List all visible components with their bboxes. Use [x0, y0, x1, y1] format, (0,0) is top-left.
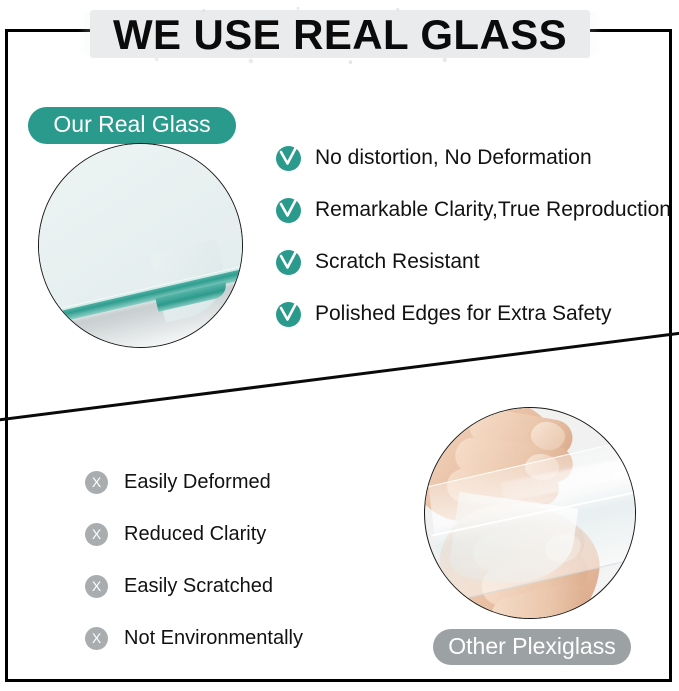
list-item-label: Not Environmentally — [124, 627, 303, 650]
x-glyph: X — [92, 631, 101, 646]
list-item-label: Reduced Clarity — [124, 523, 266, 546]
product-comparison-infographic: WE USE REAL GLASS Our Real Glass No dist… — [0, 0, 679, 691]
x-circle-icon: X — [85, 627, 108, 650]
other-plexiglass-badge: Other Plexiglass — [433, 629, 631, 665]
list-item-label: Remarkable Clarity,True Reproduction — [315, 198, 671, 222]
list-item: Remarkable Clarity,True Reproduction — [276, 184, 671, 236]
list-item-label: Easily Deformed — [124, 471, 271, 494]
list-item: X Easily Deformed — [85, 456, 303, 508]
list-item: X Not Environmentally — [85, 612, 303, 664]
list-item-label: No distortion, No Deformation — [315, 146, 592, 170]
list-item-label: Easily Scratched — [124, 575, 273, 598]
list-item: Polished Edges for Extra Safety — [276, 288, 671, 340]
x-glyph: X — [92, 527, 101, 542]
page-title: WE USE REAL GLASS — [78, 6, 602, 64]
disadvantages-list: X Easily Deformed X Reduced Clarity X Ea… — [85, 456, 303, 664]
check-circle-icon — [276, 250, 301, 275]
title-brush-band: WE USE REAL GLASS — [78, 6, 602, 64]
x-glyph: X — [92, 475, 101, 490]
advantages-list: No distortion, No Deformation Remarkable… — [276, 132, 671, 340]
check-circle-icon — [276, 302, 301, 327]
list-item-label: Polished Edges for Extra Safety — [315, 302, 612, 326]
list-item-label: Scratch Resistant — [315, 250, 480, 274]
hands-bending-plexiglass-photo — [424, 407, 636, 619]
list-item: X Reduced Clarity — [85, 508, 303, 560]
x-circle-icon: X — [85, 575, 108, 598]
x-circle-icon: X — [85, 471, 108, 494]
list-item: Scratch Resistant — [276, 236, 671, 288]
check-circle-icon — [276, 146, 301, 171]
list-item: X Easily Scratched — [85, 560, 303, 612]
check-circle-icon — [276, 198, 301, 223]
real-glass-corner-photo — [38, 143, 243, 348]
x-glyph: X — [92, 579, 101, 594]
our-real-glass-badge: Our Real Glass — [28, 107, 236, 144]
list-item: No distortion, No Deformation — [276, 132, 671, 184]
x-circle-icon: X — [85, 523, 108, 546]
